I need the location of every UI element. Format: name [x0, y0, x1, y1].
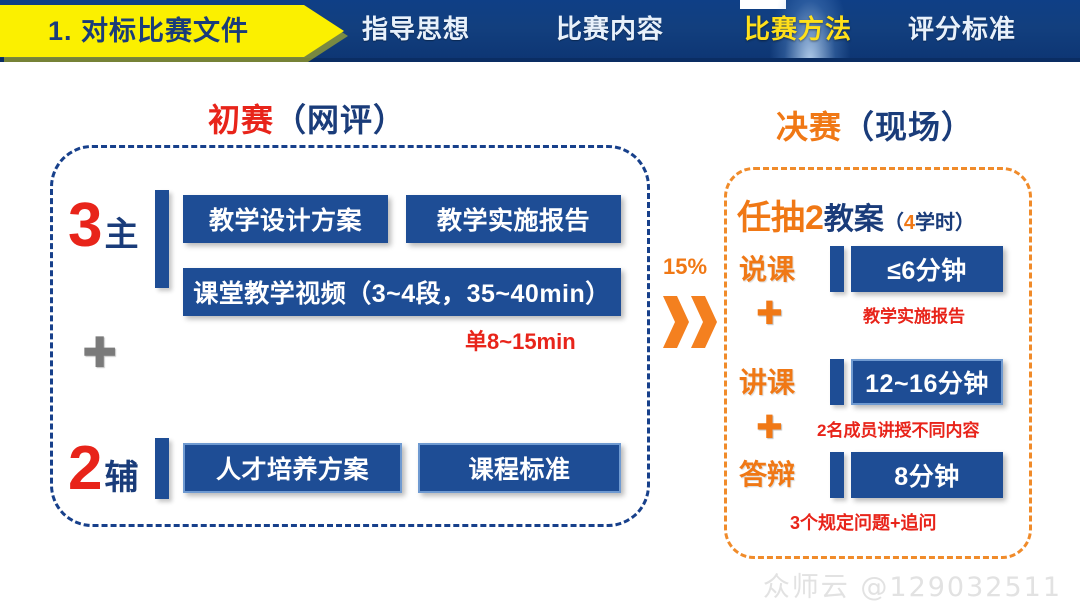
nav-tab-scoring-criteria[interactable]: 评分标准 [908, 0, 1016, 58]
primary-group-divider-bar [155, 190, 169, 288]
primary-group-suffix: 主 [104, 216, 138, 254]
row-note-lecture-presentation: 教学实施报告 [863, 302, 965, 327]
item-teaching-implementation-report[interactable]: 教学实施报告 [406, 195, 621, 243]
right-section-title-paren: （现场） [842, 109, 974, 145]
row-note-teaching: 2名成员讲授不同内容 [817, 416, 979, 441]
headline-paren-open: （ [884, 212, 904, 234]
secondary-group-suffix: 辅 [104, 459, 138, 497]
row-value-lecture-presentation[interactable]: ≤6分钟 [851, 246, 1003, 292]
nav-tab-contest-content[interactable]: 比赛内容 [556, 0, 664, 58]
secondary-group-number: 2 [68, 434, 102, 503]
right-section-title: 决赛（现场） [776, 102, 974, 148]
item-classroom-teaching-video[interactable]: 课堂教学视频（3~4段，35~40min） [183, 268, 621, 316]
left-section-title-main: 初赛 [208, 102, 274, 138]
nav-tab-guiding-ideology[interactable]: 指导思想 [362, 0, 470, 58]
nav-tab-contest-method[interactable]: 比赛方法 [744, 0, 852, 58]
headline-prefix: 任抽 [737, 199, 805, 237]
headline-hours-unit: 学时 [915, 212, 955, 234]
left-section-title: 初赛（网评） [208, 95, 406, 141]
plus-icon-right-2: ✚ [756, 411, 783, 443]
row-label-lecture-presentation: 说课 [739, 248, 795, 288]
primary-group-number: 3 [68, 191, 102, 260]
row-value-defense[interactable]: 8分钟 [851, 452, 1003, 498]
headline-noun: 教案 [824, 203, 884, 236]
final-round-headline: 任抽2教案（4学时） [737, 190, 975, 239]
row-label-defense: 答辩 [739, 453, 795, 493]
row-note-defense: 3个规定问题+追问 [790, 509, 937, 535]
row-value-teaching[interactable]: 12~16分钟 [851, 359, 1003, 405]
slide-body: 初赛（网评） 决赛（现场） 3主 教学设计方案 教学实施报告 课堂教学视频（3~… [0, 62, 1080, 608]
headline-hours: 4 [904, 212, 915, 234]
headline-count: 2 [805, 199, 824, 237]
nav-item-list: 1. 对标比赛文件 指导思想 比赛内容 比赛方法 评分标准 [0, 0, 1080, 62]
nav-tab-active-ribbon[interactable]: 1. 对标比赛文件 [0, 5, 344, 57]
row-divider-bar-3 [830, 452, 844, 498]
headline-paren-close: ） [955, 212, 975, 234]
row-divider-bar-1 [830, 246, 844, 292]
weight-percent-label: 15% [663, 254, 707, 280]
watermark-text: 众师云 @129032511 [763, 565, 1062, 604]
item-teaching-design-plan[interactable]: 教学设计方案 [183, 195, 388, 243]
left-section-title-paren: （网评） [274, 102, 406, 138]
note-single-video-length: 单8~15min [465, 324, 576, 356]
secondary-group-label: 2辅 [68, 433, 138, 504]
row-label-teaching: 讲课 [739, 361, 795, 401]
primary-group-label: 3主 [68, 190, 138, 261]
plus-icon-left-groups: ✚ [82, 332, 117, 374]
nav-tab-label-contest-doc: 1. 对标比赛文件 [48, 5, 249, 57]
top-navigation-bar: 1. 对标比赛文件 指导思想 比赛内容 比赛方法 评分标准 [0, 0, 1080, 62]
right-section-title-main: 决赛 [776, 109, 842, 145]
item-course-standard[interactable]: 课程标准 [418, 443, 621, 493]
double-chevron-right-icon [663, 296, 717, 348]
row-divider-bar-2 [830, 359, 844, 405]
plus-icon-right-1: ✚ [756, 297, 783, 329]
item-talent-training-plan[interactable]: 人才培养方案 [183, 443, 402, 493]
secondary-group-divider-bar [155, 438, 169, 499]
